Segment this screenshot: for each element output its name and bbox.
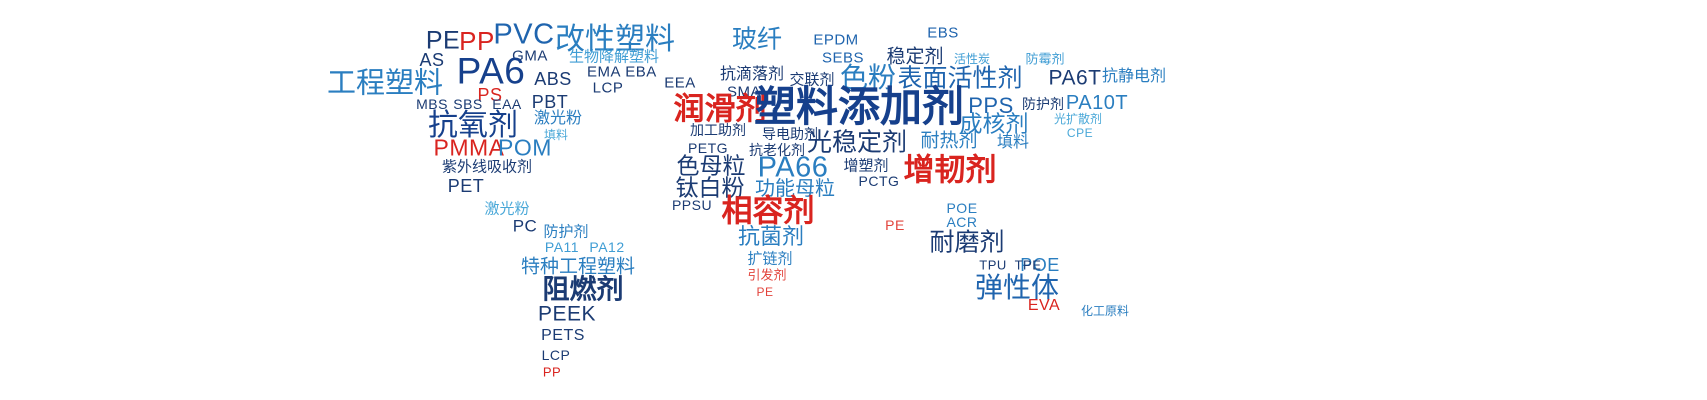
cloud-word[interactable]: 扩链剂 xyxy=(747,252,792,267)
cloud-word[interactable]: EMA xyxy=(587,65,621,80)
cloud-word[interactable]: 耐热剂 xyxy=(920,132,977,151)
cloud-word[interactable]: 抗静电剂 xyxy=(1102,68,1166,84)
cloud-word[interactable]: 增韧剂 xyxy=(904,156,997,187)
cloud-word[interactable]: 激光粉 xyxy=(534,110,582,126)
cloud-word[interactable]: TPE xyxy=(1015,259,1042,272)
cloud-word[interactable]: 玻纤 xyxy=(732,27,782,52)
cloud-word[interactable]: 紫外线吸收剂 xyxy=(442,160,532,175)
cloud-word[interactable]: PEEK xyxy=(538,304,596,325)
cloud-word[interactable]: PE xyxy=(885,218,905,232)
cloud-word[interactable]: 光扩散剂 xyxy=(1054,113,1102,125)
cloud-word[interactable]: LCP xyxy=(542,348,571,362)
cloud-word[interactable]: PCTG xyxy=(859,174,900,188)
cloud-word[interactable]: 化工原料 xyxy=(1081,305,1129,317)
cloud-word[interactable]: 防护剂 xyxy=(1022,98,1064,112)
cloud-word[interactable]: PC xyxy=(513,218,538,235)
cloud-word[interactable]: 生物降解塑料 xyxy=(569,50,659,65)
cloud-word[interactable]: EVA xyxy=(1028,298,1060,314)
cloud-word[interactable]: PA11 xyxy=(545,240,579,254)
cloud-word[interactable]: 润滑剂 xyxy=(674,95,767,126)
cloud-word[interactable]: PA6 xyxy=(457,53,526,90)
cloud-word[interactable]: 防护剂 xyxy=(543,225,588,240)
cloud-word[interactable]: ABS xyxy=(534,70,572,88)
cloud-word[interactable]: 抗菌剂 xyxy=(738,227,804,249)
cloud-word[interactable]: PE xyxy=(756,286,773,298)
cloud-word[interactable]: 激光粉 xyxy=(484,202,529,217)
cloud-word[interactable]: 塑料添加剂 xyxy=(754,86,964,128)
cloud-word[interactable]: PPSU xyxy=(672,198,712,212)
cloud-word[interactable]: 抗滴落剂 xyxy=(720,66,784,82)
word-cloud-canvas: PEPPPVCGMA改性塑料ASPA6ABS生物降解塑料EMAEBALCPEEA… xyxy=(0,0,1707,400)
cloud-word[interactable]: EEA xyxy=(664,76,696,91)
cloud-word[interactable]: 加工助剂 xyxy=(690,124,746,138)
cloud-word[interactable]: LCP xyxy=(593,81,624,96)
cloud-word[interactable]: 相容剂 xyxy=(722,197,815,228)
cloud-word[interactable]: EPDM xyxy=(813,33,858,48)
cloud-word[interactable]: PET xyxy=(448,177,485,195)
cloud-word[interactable]: PA10T xyxy=(1066,93,1128,113)
cloud-word[interactable]: PP xyxy=(543,366,561,379)
cloud-word[interactable]: 引发剂 xyxy=(747,270,786,283)
cloud-word[interactable]: PVC xyxy=(493,21,554,50)
cloud-word[interactable]: PA12 xyxy=(589,240,624,254)
cloud-word[interactable]: 耐磨剂 xyxy=(929,230,1004,255)
cloud-word[interactable]: 防霉剂 xyxy=(1025,54,1064,67)
cloud-word[interactable]: PA6T xyxy=(1049,68,1102,89)
cloud-word[interactable]: 工程塑料 xyxy=(327,69,443,98)
cloud-word[interactable]: PMMA xyxy=(434,137,505,160)
cloud-word[interactable]: POM xyxy=(498,137,552,160)
cloud-word[interactable]: POE xyxy=(946,201,977,215)
cloud-word[interactable]: 增塑剂 xyxy=(843,159,888,174)
cloud-word[interactable]: CPE xyxy=(1067,127,1093,139)
cloud-word[interactable]: PETS xyxy=(541,328,585,344)
cloud-word[interactable]: EBS xyxy=(927,26,959,41)
cloud-word[interactable]: TPU xyxy=(979,259,1007,272)
cloud-word[interactable]: 阻燃剂 xyxy=(543,277,624,304)
cloud-word[interactable]: 填料 xyxy=(997,134,1029,150)
cloud-word[interactable]: EBA xyxy=(625,65,657,80)
